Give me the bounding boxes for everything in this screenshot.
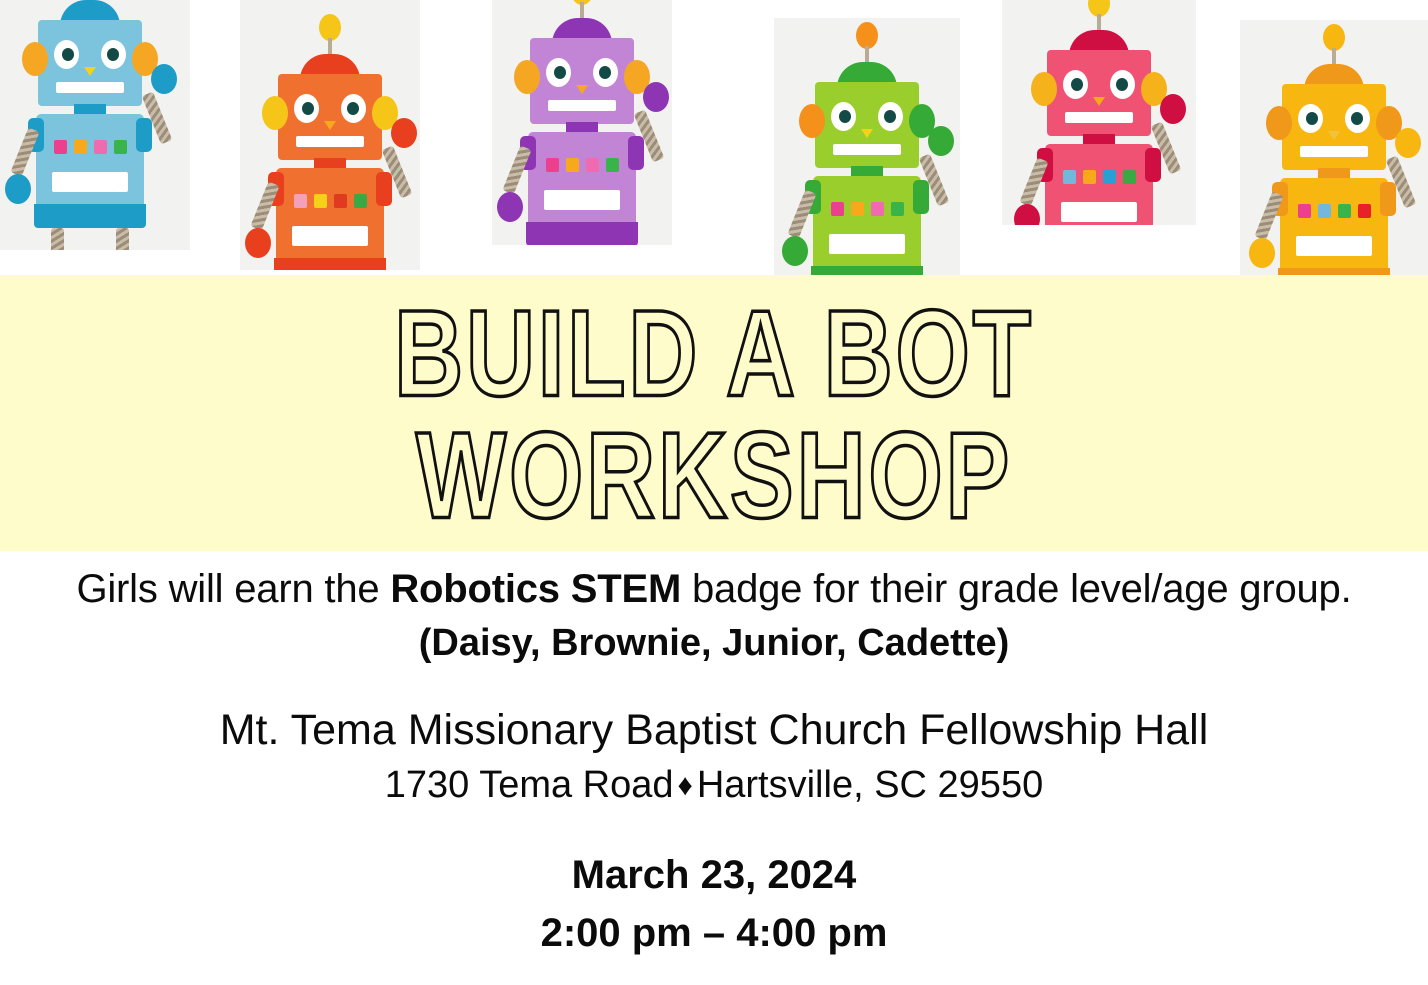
eye-right: [593, 58, 618, 87]
mouth: [548, 100, 616, 111]
head: [530, 38, 634, 124]
button-3: [586, 158, 599, 172]
pupil-left: [839, 110, 851, 123]
hand-left: [497, 192, 523, 222]
button-1: [1063, 170, 1076, 184]
shoulder-right: [1380, 182, 1396, 216]
event-time: 2:00 pm – 4:00 pm: [0, 901, 1428, 959]
head: [1282, 84, 1386, 170]
hand-left: [1249, 238, 1275, 268]
button-4: [114, 140, 127, 154]
leg-right-spring: [116, 228, 129, 250]
pupil-left: [1306, 112, 1318, 125]
ear-left-icon: [1031, 72, 1057, 106]
eye-left: [546, 58, 571, 87]
nose-icon: [1093, 97, 1105, 106]
button-2: [1083, 170, 1096, 184]
skirt: [526, 222, 638, 245]
button-4: [1123, 170, 1136, 184]
shoulder-right: [628, 136, 644, 170]
mouth: [1065, 112, 1133, 123]
address-city: Hartsville, SC 29550: [697, 764, 1043, 806]
torso: [813, 176, 921, 275]
leg-left-spring: [51, 228, 64, 250]
flyer-details: Girls will earn the Robotics STEM badge …: [0, 551, 1428, 959]
hand-right: [1395, 128, 1421, 158]
robot-banner-strip: [0, 0, 1428, 275]
button-4: [354, 194, 367, 208]
chest-panel: [292, 226, 368, 246]
head: [815, 82, 919, 168]
chest-panel: [544, 190, 620, 210]
antenna-ball-icon: [856, 22, 878, 49]
torso: [528, 132, 636, 232]
eye-left: [1298, 104, 1323, 133]
eye-right: [878, 102, 903, 131]
button-1: [294, 194, 307, 208]
venue-name: Mt. Tema Missionary Baptist Church Fello…: [0, 668, 1428, 758]
robot-pink: [1024, 0, 1174, 225]
robot-tile-blue: [0, 0, 190, 250]
ear-left-icon: [1266, 106, 1292, 140]
robot-tile-orange: [240, 0, 420, 270]
pupil-left: [62, 48, 74, 61]
skirt: [1278, 268, 1390, 275]
pupil-right: [599, 66, 611, 79]
button-2: [314, 194, 327, 208]
torso: [1045, 144, 1153, 225]
button-2: [1318, 204, 1331, 218]
button-1: [546, 158, 559, 172]
button-3: [1338, 204, 1351, 218]
skirt: [274, 258, 386, 270]
shoulder-right: [913, 180, 929, 214]
button-2: [74, 140, 87, 154]
event-date: March 23, 2024: [0, 811, 1428, 901]
badge-description: Girls will earn the Robotics STEM badge …: [0, 551, 1428, 614]
hand-left: [1014, 204, 1040, 225]
robot-orange: [255, 10, 405, 270]
chest-panel: [52, 172, 128, 192]
eye-right: [1345, 104, 1370, 133]
hand-left: [5, 174, 31, 204]
grade-levels: (Daisy, Brownie, Junior, Cadette): [0, 614, 1428, 668]
antenna-ball-icon: [1323, 24, 1345, 51]
mouth: [1300, 146, 1368, 157]
button-3: [871, 202, 884, 216]
mouth: [833, 144, 901, 155]
nose-icon: [1328, 131, 1340, 140]
shoulder-right: [136, 118, 152, 152]
robot-blue: [15, 0, 165, 250]
ear-left-icon: [22, 42, 48, 76]
button-3: [94, 140, 107, 154]
ear-left-icon: [514, 60, 540, 94]
ear-left-icon: [262, 96, 288, 130]
ear-left-icon: [799, 104, 825, 138]
button-3: [1103, 170, 1116, 184]
pupil-left: [1071, 78, 1083, 91]
button-2: [566, 158, 579, 172]
button-2: [851, 202, 864, 216]
pupil-left: [554, 66, 566, 79]
eye-left: [831, 102, 856, 131]
mouth: [296, 136, 364, 147]
chest-panel: [1061, 202, 1137, 222]
robot-yellow: [1259, 20, 1409, 275]
robot-tile-pink: [1002, 0, 1196, 225]
flyer-page: BUILD A BOT WORKSHOP Girls will earn the…: [0, 0, 1428, 985]
eye-right: [1110, 70, 1135, 99]
button-4: [1358, 204, 1371, 218]
eye-right: [101, 40, 126, 69]
skirt: [34, 204, 146, 228]
robot-green: [792, 18, 942, 275]
button-1: [1298, 204, 1311, 218]
title-line-1: BUILD A BOT: [57, 293, 1371, 416]
button-1: [831, 202, 844, 216]
pupil-right: [347, 102, 359, 115]
shoulder-right: [1145, 148, 1161, 182]
robot-purple: [507, 0, 657, 245]
nose-icon: [861, 129, 873, 138]
hand-left: [245, 228, 271, 258]
badge-text-after: badge for their grade level/age group.: [681, 567, 1351, 611]
pupil-right: [1116, 78, 1128, 91]
button-4: [606, 158, 619, 172]
head: [38, 20, 142, 106]
address-street: 1730 Tema Road: [385, 764, 674, 806]
title-line-2: WORKSHOP: [57, 415, 1371, 538]
hand-right: [643, 82, 669, 112]
eye-left: [1063, 70, 1088, 99]
diamond-separator-icon: ♦: [674, 769, 697, 802]
chest-panel: [1296, 236, 1372, 256]
pupil-right: [1351, 112, 1363, 125]
robot-tile-purple: [492, 0, 672, 245]
hand-right: [391, 118, 417, 148]
robot-tile-yellow: [1240, 20, 1428, 275]
head: [278, 74, 382, 160]
skirt: [811, 266, 923, 275]
title-band: BUILD A BOT WORKSHOP: [0, 275, 1428, 551]
hand-left: [782, 236, 808, 266]
button-1: [54, 140, 67, 154]
shoulder-right: [376, 172, 392, 206]
eye-right: [341, 94, 366, 123]
robot-tile-green: [774, 18, 960, 275]
torso: [1280, 178, 1388, 275]
pupil-right: [884, 110, 896, 123]
nose-icon: [84, 67, 96, 76]
antenna-ball-icon: [319, 14, 341, 41]
hand-right: [151, 64, 177, 94]
chest-panel: [829, 234, 905, 254]
venue-address: 1730 Tema Road♦Hartsville, SC 29550: [0, 758, 1428, 811]
button-4: [891, 202, 904, 216]
pupil-left: [302, 102, 314, 115]
badge-name: Robotics STEM: [390, 567, 681, 611]
badge-text-before: Girls will earn the: [76, 567, 390, 611]
head: [1047, 50, 1151, 136]
hand-right: [1160, 94, 1186, 124]
mouth: [56, 82, 124, 93]
button-3: [334, 194, 347, 208]
hand-right: [928, 126, 954, 156]
torso: [36, 114, 144, 214]
pupil-right: [107, 48, 119, 61]
eye-left: [54, 40, 79, 69]
nose-icon: [576, 85, 588, 94]
eye-left: [294, 94, 319, 123]
torso: [276, 168, 384, 268]
nose-icon: [324, 121, 336, 130]
